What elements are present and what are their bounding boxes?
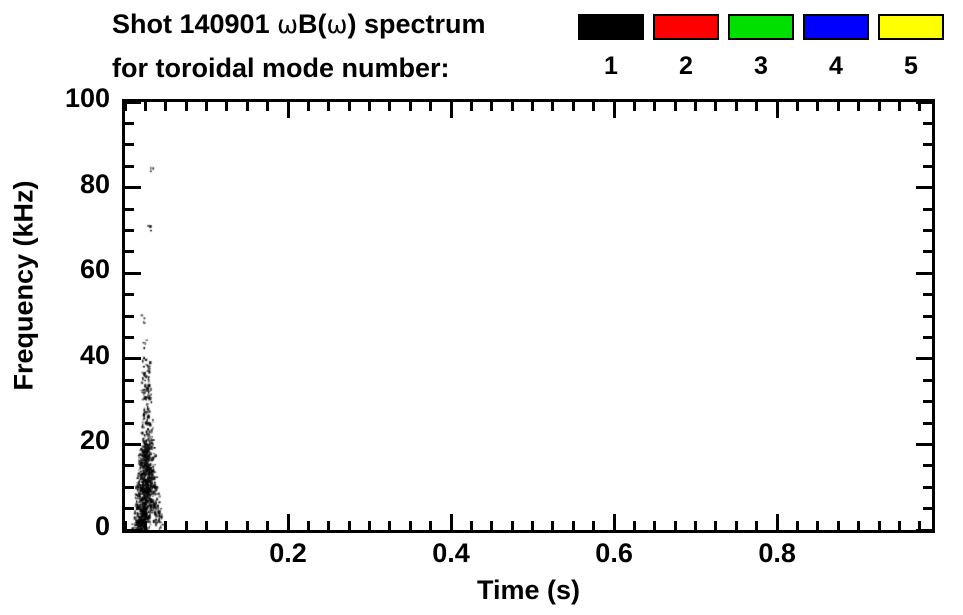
y-tick-right-85	[923, 165, 932, 168]
chart-title-mid: B(	[298, 9, 327, 39]
x-tick-top-0.425	[470, 102, 473, 111]
x-tick-0.900	[857, 521, 860, 530]
y-tick-right-90	[923, 143, 932, 146]
legend-label-2: 2	[653, 52, 719, 81]
y-tick-65	[125, 250, 134, 253]
x-tick-top-0.775	[755, 102, 758, 111]
x-tick-0.775	[755, 521, 758, 530]
x-tick-label-0.6: 0.6	[595, 538, 633, 569]
y-tick-60	[125, 272, 141, 275]
x-tick-top-0.175	[266, 102, 269, 111]
x-tick-top-0.075	[185, 102, 188, 111]
y-tick-right-10	[923, 486, 932, 489]
x-tick-0.400	[450, 514, 453, 530]
legend: 12345	[578, 14, 948, 90]
x-tick-top-0.400	[450, 102, 453, 118]
y-tick-100	[125, 101, 141, 104]
y-axis-title: Frequency (kHz)	[9, 136, 40, 436]
y-tick-35	[125, 379, 134, 382]
x-tick-0.625	[633, 521, 636, 530]
y-tick-right-5	[923, 507, 932, 510]
plot-frame	[122, 99, 935, 533]
x-tick-label-0.4: 0.4	[432, 538, 470, 569]
y-tick-75	[125, 208, 134, 211]
y-tick-25	[125, 422, 134, 425]
x-tick-top-0.625	[633, 102, 636, 111]
legend-swatch-1	[578, 14, 644, 40]
x-tick-top-0.225	[307, 102, 310, 111]
x-tick-0.575	[592, 521, 595, 530]
legend-label-5: 5	[878, 52, 944, 81]
y-tick-45	[125, 336, 134, 339]
x-tick-0.925	[878, 521, 881, 530]
legend-label-4: 4	[803, 52, 869, 81]
x-tick-label-0.8: 0.8	[758, 538, 796, 569]
x-tick-top-0.375	[429, 102, 432, 111]
y-tick-right-30	[923, 400, 932, 403]
y-tick-50	[125, 315, 134, 318]
legend-entry-5: 5	[878, 14, 946, 90]
x-tick-top-0.875	[837, 102, 840, 111]
x-tick-top-0.300	[368, 102, 371, 111]
y-tick-right-40	[916, 357, 932, 360]
x-tick-0.225	[307, 521, 310, 530]
x-tick-top-0.350	[409, 102, 412, 111]
x-tick-0.650	[653, 521, 656, 530]
x-tick-top-0.525	[551, 102, 554, 111]
y-tick-right-80	[916, 186, 932, 189]
chart-title-prefix: Shot 140901	[112, 9, 277, 39]
y-tick-right-15	[923, 464, 932, 467]
x-tick-0.800	[776, 514, 779, 530]
x-tick-top-0.250	[327, 102, 330, 111]
x-tick-top-0.125	[225, 102, 228, 111]
x-tick-0.075	[185, 521, 188, 530]
x-tick-label-0.2: 0.2	[269, 538, 307, 569]
y-tick-30	[125, 400, 134, 403]
y-tick-20	[125, 443, 141, 446]
x-tick-0.475	[511, 521, 514, 530]
x-tick-top-0.275	[348, 102, 351, 111]
x-tick-0.725	[714, 521, 717, 530]
x-tick-0.875	[837, 521, 840, 530]
y-tick-right-65	[923, 250, 932, 253]
legend-swatch-5	[878, 14, 944, 40]
y-tick-right-50	[923, 315, 932, 318]
omega-symbol-1: ω	[277, 10, 298, 39]
x-tick-top-0.100	[205, 102, 208, 111]
legend-entry-2: 2	[653, 14, 721, 90]
plot-area	[125, 102, 932, 530]
x-tick-top-0.675	[674, 102, 677, 111]
y-tick-label-100: 100	[10, 83, 110, 114]
chart-title-suffix: ) spectrum	[347, 9, 485, 39]
x-tick-0.375	[429, 521, 432, 530]
x-tick-0.700	[694, 521, 697, 530]
x-tick-top-0.800	[776, 102, 779, 118]
x-tick-top-0.650	[653, 102, 656, 111]
chart-title-line-1: Shot 140901 ωB(ω) spectrum	[112, 9, 486, 40]
y-tick-right-25	[923, 422, 932, 425]
x-tick-0.675	[674, 521, 677, 530]
y-tick-right-35	[923, 379, 932, 382]
x-tick-0.275	[348, 521, 351, 530]
x-tick-top-0.900	[857, 102, 860, 111]
x-tick-top-0.925	[878, 102, 881, 111]
x-tick-0.300	[368, 521, 371, 530]
y-tick-15	[125, 464, 134, 467]
x-tick-top-0.200	[287, 102, 290, 118]
x-tick-0.425	[470, 521, 473, 530]
x-tick-top-0.025	[144, 102, 147, 111]
x-axis-tick-labels: 0.20.40.60.8	[122, 538, 935, 574]
x-tick-0.525	[551, 521, 554, 530]
x-tick-top-0.600	[613, 102, 616, 118]
omega-symbol-2: ω	[327, 10, 348, 39]
x-tick-0.125	[225, 521, 228, 530]
spectrum-figure: Shot 140901 ωB(ω) spectrum for toroidal …	[0, 0, 963, 615]
x-tick-0.450	[490, 521, 493, 530]
x-tick-top-0.700	[694, 102, 697, 111]
y-tick-right-45	[923, 336, 932, 339]
x-tick-top-0.000	[124, 102, 127, 111]
y-tick-90	[125, 143, 134, 146]
x-tick-top-0.550	[572, 102, 575, 111]
y-tick-10	[125, 486, 134, 489]
y-tick-0	[125, 529, 141, 532]
legend-entry-4: 4	[803, 14, 871, 90]
x-tick-0.050	[164, 521, 167, 530]
legend-entry-3: 3	[728, 14, 796, 90]
x-tick-0.550	[572, 521, 575, 530]
y-tick-95	[125, 122, 134, 125]
chart-title-line-2: for toroidal mode number:	[112, 53, 450, 84]
y-tick-40	[125, 357, 141, 360]
x-tick-0.850	[816, 521, 819, 530]
x-tick-top-0.825	[796, 102, 799, 111]
y-tick-70	[125, 229, 134, 232]
x-tick-0.100	[205, 521, 208, 530]
y-tick-right-55	[923, 293, 932, 296]
y-tick-right-20	[916, 443, 932, 446]
legend-swatch-2	[653, 14, 719, 40]
legend-swatch-3	[728, 14, 794, 40]
x-tick-0.025	[144, 521, 147, 530]
x-tick-0.325	[388, 521, 391, 530]
x-tick-0.200	[287, 514, 290, 530]
x-tick-0.500	[531, 521, 534, 530]
x-tick-top-0.500	[531, 102, 534, 111]
y-tick-55	[125, 293, 134, 296]
x-tick-0.175	[266, 521, 269, 530]
x-tick-0.250	[327, 521, 330, 530]
y-tick-label-0: 0	[10, 511, 110, 542]
legend-swatch-4	[803, 14, 869, 40]
x-tick-0.350	[409, 521, 412, 530]
x-tick-top-0.475	[511, 102, 514, 111]
x-tick-top-0.850	[816, 102, 819, 111]
legend-entry-1: 1	[578, 14, 646, 90]
y-tick-right-75	[923, 208, 932, 211]
x-tick-top-0.325	[388, 102, 391, 111]
x-tick-top-0.050	[164, 102, 167, 111]
x-tick-top-0.575	[592, 102, 595, 111]
x-tick-0.750	[735, 521, 738, 530]
x-tick-top-0.950	[898, 102, 901, 111]
x-axis-title: Time (s)	[122, 575, 935, 606]
spectrum-data-layer	[125, 102, 932, 530]
x-tick-0.975	[918, 521, 921, 530]
y-tick-right-70	[923, 229, 932, 232]
x-tick-0.150	[246, 521, 249, 530]
x-tick-top-0.725	[714, 102, 717, 111]
x-tick-top-0.975	[918, 102, 921, 111]
y-tick-right-95	[923, 122, 932, 125]
x-tick-top-0.150	[246, 102, 249, 111]
x-tick-0.000	[124, 521, 127, 530]
legend-label-3: 3	[728, 52, 794, 81]
x-tick-0.825	[796, 521, 799, 530]
y-tick-right-60	[916, 272, 932, 275]
y-tick-5	[125, 507, 134, 510]
x-tick-top-0.750	[735, 102, 738, 111]
y-tick-85	[125, 165, 134, 168]
y-tick-80	[125, 186, 141, 189]
x-tick-0.600	[613, 514, 616, 530]
x-tick-0.950	[898, 521, 901, 530]
legend-label-1: 1	[578, 52, 644, 81]
x-tick-top-0.450	[490, 102, 493, 111]
